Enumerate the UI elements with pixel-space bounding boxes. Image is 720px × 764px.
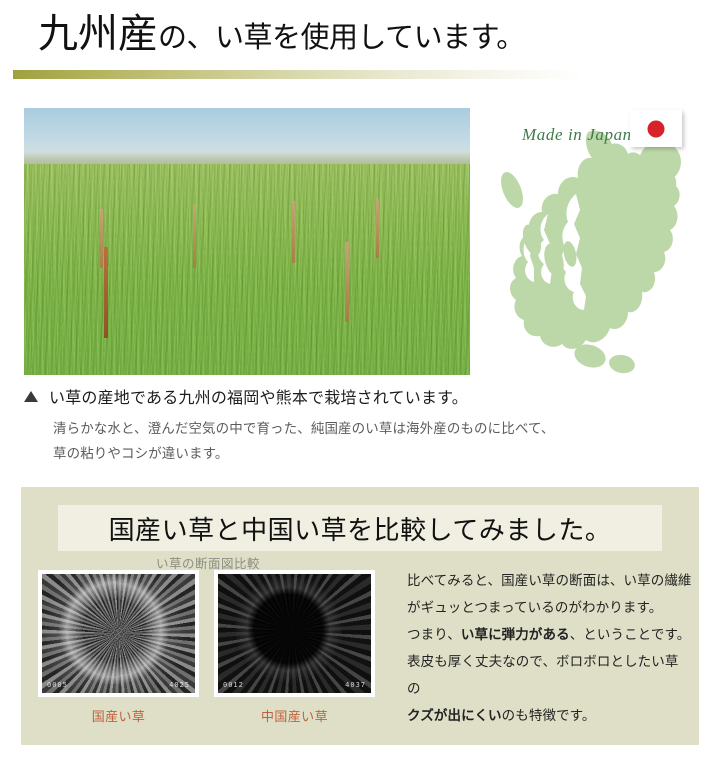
emphasis-text: クズが出にくい [407,708,502,723]
comparison-body-line-4: 表皮も厚く丈夫なので、ボロボロとしたい草の [407,648,692,702]
body-text: つまり、 [407,627,461,642]
body-text: 、ということです。 [570,627,691,642]
micrograph-scalebar: 0005 4025 [42,681,195,690]
micrograph-label-chinese: 中国産い草 [214,706,375,725]
made-in-japan-badge: Made in Japan [522,125,632,145]
igusa-field-photo [24,108,470,375]
comparison-body-line-5: クズが出にくいのも特徴です。 [407,702,692,729]
field-stake [104,247,108,338]
micrograph-figure-group: 0005 4025 国産い草 0012 4037 中国産い草 [38,570,375,725]
micrograph-texture [42,574,195,693]
comparison-panel: 国産い草と中国い草を比較してみました。 い草の断面図比較 0005 4025 国… [21,487,699,745]
field-stake [193,204,196,268]
comparison-body-line-1: 比べてみると、国産い草の断面は、い草の繊維 [407,567,692,594]
flag-red-disc [648,120,665,137]
page-title-emphasis: 九州産 [38,11,158,56]
domestic-igusa-cross-section-image: 0005 4025 [38,570,199,697]
micrograph-texture [218,574,371,693]
caption-headline-row: い草の産地である九州の福岡や熊本で栽培されています。 [24,384,584,408]
comparison-body-line-2: がギュッとつまっているのがわかります。 [407,594,692,621]
comparison-banner-title: 国産い草と中国い草を比較してみました。 [109,510,612,547]
page-title: 九州産の、い草を使用しています。 [38,14,525,54]
micrograph-figure: 0012 4037 中国産い草 [214,570,375,725]
comparison-body-text: 比べてみると、国産い草の断面は、い草の繊維がギュッとつまっているのがわかります。… [407,567,692,729]
body-text: 比べてみると、国産い草の断面は、い草の繊維 [407,573,692,588]
scalebar-right-value: 4037 [345,681,366,690]
micrograph-figure: 0005 4025 国産い草 [38,570,199,725]
comparison-banner: 国産い草と中国い草を比較してみました。 [58,505,662,551]
heading-gradient-rule [13,70,583,79]
photo-caption: い草の産地である九州の福岡や熊本で栽培されています。 清らかな水と、澄んだ空気の… [24,384,584,467]
body-text: がギュッとつまっているのがわかります。 [407,600,662,615]
triangle-marker-icon [24,391,38,402]
kyushu-map [470,118,700,378]
field-stake [345,242,349,322]
micrograph-scalebar: 0012 4037 [218,681,371,690]
field-stake [376,199,379,258]
field-stake [100,209,103,268]
japan-flag-icon [630,110,682,147]
caption-subtext-line-1: 清らかな水と、澄んだ空気の中で育った、純国産のい草は海外産のものに比べて、 [53,417,584,442]
comparison-body-line-3: つまり、い草に弾力がある、ということです。 [407,621,692,648]
body-text: のも特徴です。 [502,708,596,723]
page-title-rest: の、い草を使用しています。 [158,22,525,54]
caption-subtext: 清らかな水と、澄んだ空気の中で育った、純国産のい草は海外産のものに比べて、 草の… [53,417,584,467]
scalebar-left-value: 0005 [47,681,68,690]
field-stake [292,201,295,262]
chinese-igusa-cross-section-image: 0012 4037 [214,570,375,697]
body-text: 表皮も厚く丈夫なので、ボロボロとしたい草の [407,654,678,696]
photo-rush-field [24,164,470,375]
micrograph-label-domestic: 国産い草 [38,706,199,725]
scalebar-right-value: 4025 [169,681,190,690]
emphasis-text: い草に弾力がある [461,627,570,642]
caption-subtext-line-2: 草の粘りやコシが違います。 [53,442,584,467]
scalebar-left-value: 0012 [223,681,244,690]
caption-headline: い草の産地である九州の福岡や熊本で栽培されています。 [49,384,468,408]
